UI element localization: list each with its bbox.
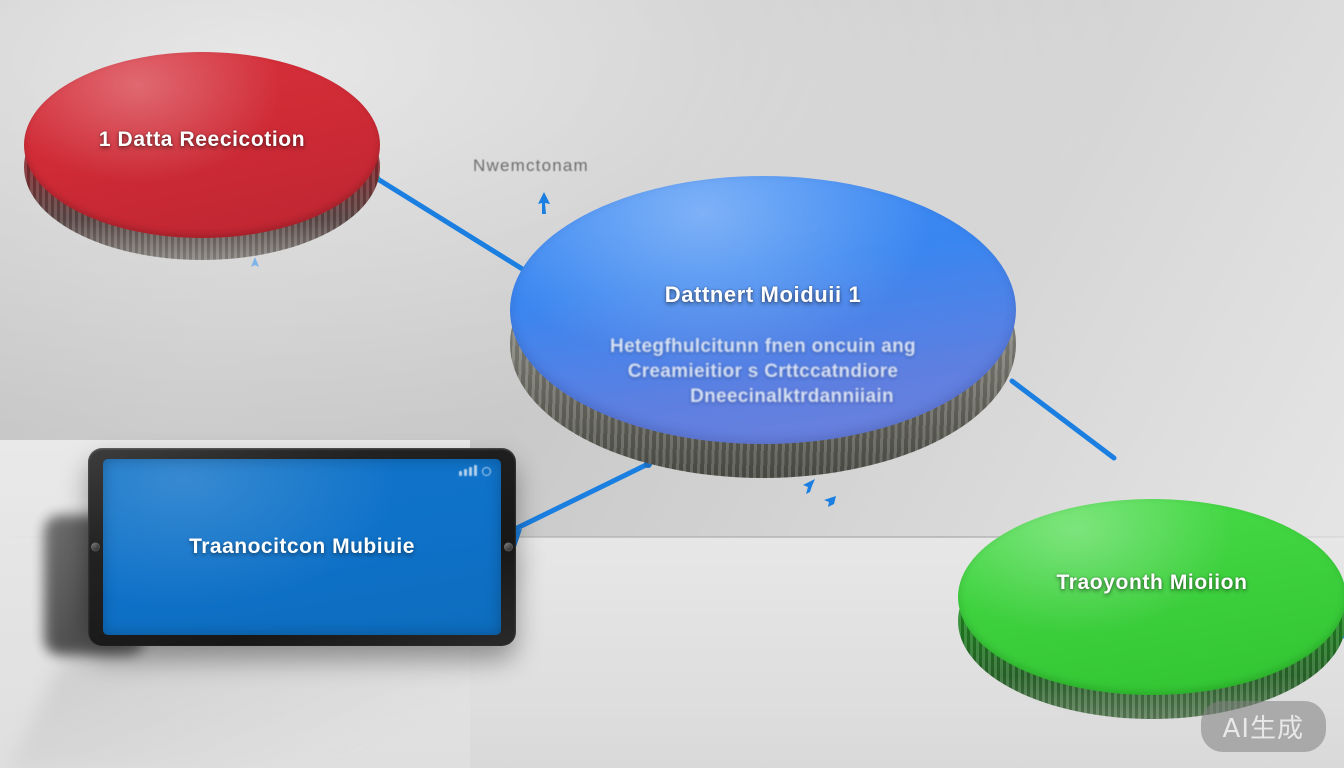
tablet-screen[interactable]: Traanocitcon Mubiuie [103, 459, 501, 635]
cursor-mid-a-icon [797, 476, 819, 498]
ai-generated-watermark: AI生成 [1201, 701, 1326, 752]
diagram-canvas: Nwemctonam 1 Datta Reecicotion Dattnert … [0, 0, 1344, 768]
connector-blue-to-green [1012, 381, 1114, 458]
node-throughput-module[interactable]: Traoyonth Mioiion [958, 499, 1344, 695]
node-title-throughput-module: Traoyonth Mioiion [958, 571, 1344, 595]
signal-bar-2-icon [464, 469, 467, 476]
tablet-home-button-icon[interactable] [504, 543, 513, 552]
node-central-module[interactable]: Dattnert Moiduii 1 Hetegfhulcitunn fnen … [510, 176, 1016, 444]
node-transaction-module-tablet[interactable]: Traanocitcon Mubiuie [88, 448, 516, 646]
connector-tablet-to-blue [513, 464, 648, 530]
tablet-camera-left-icon [91, 543, 100, 552]
node-title-central-module: Dattnert Moiduii 1 [510, 282, 1016, 308]
node-title-transaction-module: Traanocitcon Mubiuie [103, 535, 501, 559]
connector-red-to-blue [376, 178, 524, 270]
battery-icon [482, 467, 491, 476]
edge-label-nwemctonam: Nwemctonam [473, 156, 589, 176]
tablet-status-bar [459, 465, 491, 476]
node-subline-1: Hetegfhulcitunn fnen oncuin ang [510, 334, 1016, 359]
signal-bar-3-icon [469, 467, 472, 476]
cursor-mid-b-icon [818, 492, 840, 510]
node-subline-3: Dneecinalktrdanniiain [568, 384, 1016, 409]
signal-bar-1-icon [459, 471, 462, 476]
signal-bar-4-icon [474, 465, 477, 476]
green-disc-top [958, 499, 1344, 695]
node-data-collection[interactable]: 1 Datta Reecicotion [24, 52, 380, 238]
node-subtext-central-module: Hetegfhulcitunn fnen oncuin ang Creamiei… [510, 334, 1016, 409]
node-title-data-collection: 1 Datta Reecicotion [24, 128, 380, 152]
node-subline-2: Creamieitior s Crttccatndiore [510, 359, 1016, 384]
